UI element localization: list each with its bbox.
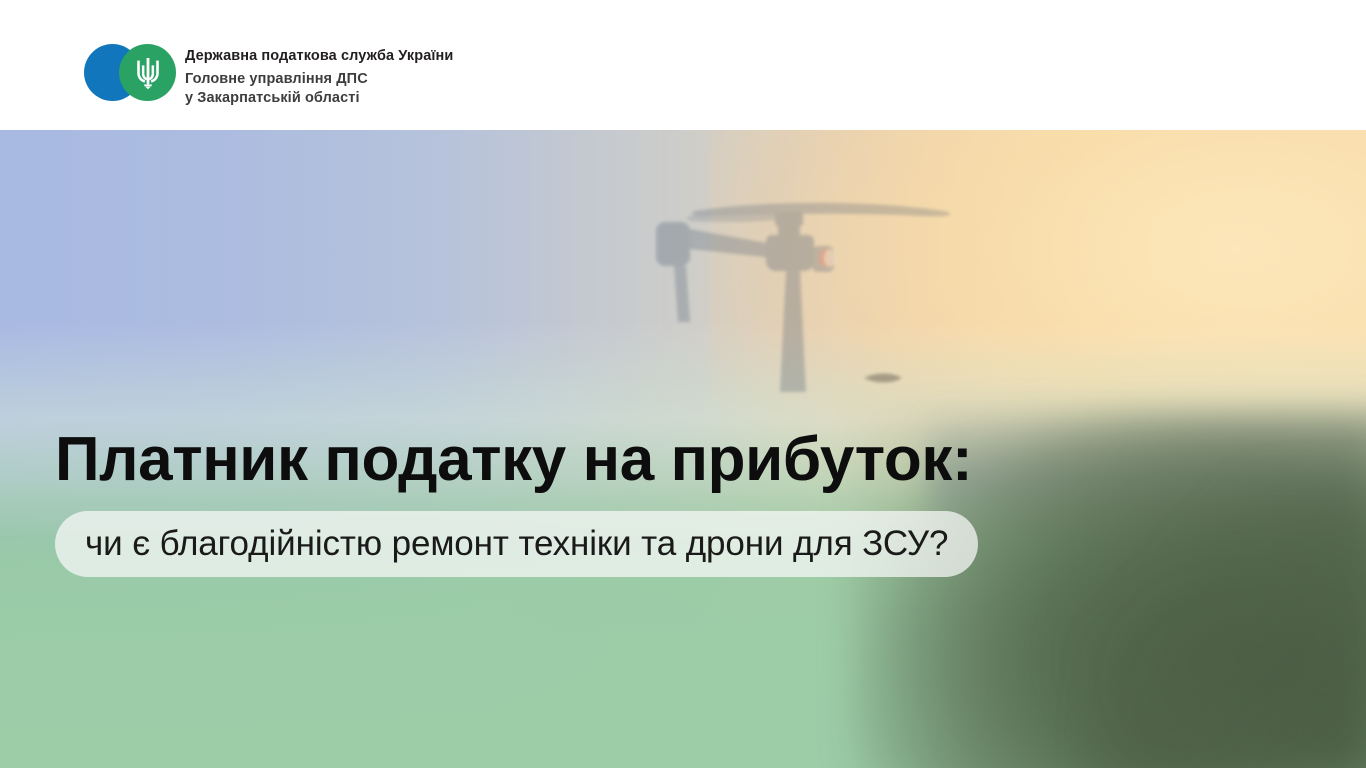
logo-marks (84, 44, 176, 101)
drone-silhouette-icon (620, 192, 980, 402)
subtitle-pill: чи є благодійністю ремонт техніки та дро… (55, 511, 978, 577)
org-line-1: Державна податкова служба України (185, 46, 453, 66)
organization-logo-block[interactable]: Державна податкова служба України Головн… (84, 44, 453, 108)
subtitle-text: чи є благодійністю ремонт техніки та дро… (85, 524, 948, 564)
background-foliage-secondary (1093, 475, 1366, 768)
banner-page: Державна податкова служба України Головн… (0, 0, 1366, 768)
header-band: Державна податкова служба України Головн… (0, 0, 1366, 130)
ukraine-trident-icon (119, 44, 176, 101)
organization-name: Державна податкова служба України Головн… (185, 44, 453, 108)
org-line-2: Головне управління ДПС (185, 70, 453, 89)
org-line-3: у Закарпатській області (185, 89, 453, 108)
hero-section: Платник податку на прибуток: чи є благод… (0, 130, 1366, 768)
page-title: Платник податку на прибуток: (55, 426, 972, 494)
